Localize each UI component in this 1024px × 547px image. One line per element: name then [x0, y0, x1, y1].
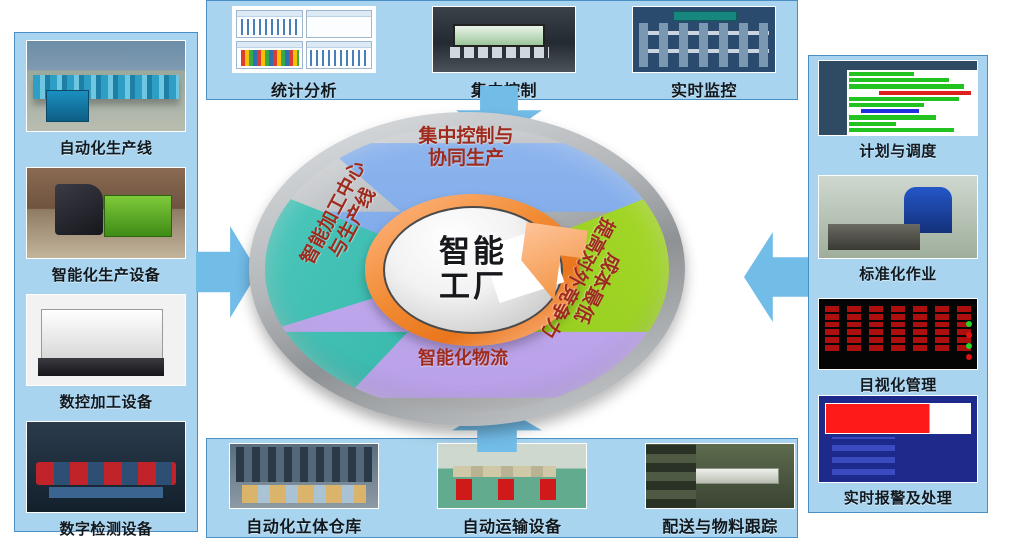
top-item-caption: 统计分析 [271, 77, 337, 101]
thumbnail-image [232, 6, 376, 73]
mini-chart [236, 41, 303, 69]
right-item-caption: 目视化管理 [859, 374, 937, 395]
thumbnail-image [432, 6, 576, 73]
top-item-2[interactable]: 实时监控 [632, 6, 776, 101]
thumbnail-image [26, 294, 186, 386]
scene-statistical-analysis [233, 7, 375, 72]
left-item-caption: 数控加工设备 [59, 391, 152, 412]
thumbnail-image [645, 443, 795, 509]
right-item-caption: 标准化作业 [859, 263, 937, 284]
bottom-item-1[interactable]: 自动运输设备 [436, 443, 588, 537]
scene-digital-inspection-equipment [27, 422, 185, 512]
bottom-item-2[interactable]: 配送与物料跟踪 [644, 443, 796, 537]
mini-chart [306, 41, 373, 69]
top-item-0[interactable]: 统计分析 [232, 6, 376, 101]
center-title-line2: 工厂 [439, 270, 507, 305]
right-item-1[interactable]: 标准化作业 [816, 175, 980, 284]
scene-planning-scheduling [819, 61, 977, 135]
smart-factory-wheel: 智能 工厂 集中控制与 协同生产 成本最低 提高对外竞争力 智能化物流 智能加工… [243, 108, 698, 438]
thumbnail-image [26, 167, 186, 259]
mini-chart [306, 10, 373, 38]
scene-automated-production-line [27, 41, 185, 131]
left-item-2[interactable]: 数控加工设备 [24, 294, 188, 412]
arrow-right-to-center-icon [744, 232, 808, 322]
scene-intelligent-production-equipment [27, 168, 185, 258]
thumbnail-image [818, 175, 978, 259]
right-item-3[interactable]: 实时报警及处理 [816, 395, 980, 508]
bottom-item-caption: 自动化立体仓库 [246, 513, 362, 537]
scene-centralized-control-room [433, 7, 575, 72]
right-item-caption: 计划与调度 [859, 140, 937, 161]
top-item-caption: 实时监控 [671, 77, 737, 101]
thumbnail-image [229, 443, 379, 509]
left-item-3[interactable]: 数字检测设备 [24, 421, 188, 539]
bottom-item-0[interactable]: 自动化立体仓库 [228, 443, 380, 537]
left-item-0[interactable]: 自动化生产线 [24, 40, 188, 158]
left-item-1[interactable]: 智能化生产设备 [24, 167, 188, 285]
bottom-item-caption: 自动运输设备 [462, 513, 561, 537]
scene-automated-transport-equipment [438, 444, 586, 508]
right-item-2[interactable]: 目视化管理 [816, 298, 980, 395]
bottom-item-caption: 配送与物料跟踪 [662, 513, 778, 537]
thumbnail-image [818, 60, 978, 136]
thumbnail-image [818, 395, 978, 483]
scene-automated-warehouse [230, 444, 378, 508]
thumbnail-image [26, 421, 186, 513]
left-item-caption: 智能化生产设备 [52, 264, 161, 285]
wheel-label-bottom: 智能化物流 [353, 348, 573, 369]
wheel-center-title: 智能 工厂 [393, 208, 553, 332]
thumbnail-image [26, 40, 186, 132]
scene-visual-management [819, 299, 977, 369]
thumbnail-image [818, 298, 978, 370]
thumbnail-image [437, 443, 587, 509]
left-item-caption: 数字检测设备 [59, 518, 152, 539]
scene-realtime-monitoring [633, 7, 775, 72]
left-item-caption: 自动化生产线 [59, 137, 152, 158]
right-item-caption: 实时报警及处理 [844, 487, 953, 508]
scene-material-tracking [646, 444, 794, 508]
center-title-line1: 智能 [439, 235, 507, 270]
scene-realtime-alarm-handling [819, 396, 977, 482]
scene-cnc-machining-equipment [27, 295, 185, 385]
infographic-canvas: 自动化生产线 智能化生产设备 数控加工设备 数字检测设备 统计分析 [0, 0, 1024, 547]
thumbnail-image [632, 6, 776, 73]
right-item-0[interactable]: 计划与调度 [816, 60, 980, 161]
mini-chart [236, 10, 303, 38]
scene-standardized-operation [819, 176, 977, 258]
